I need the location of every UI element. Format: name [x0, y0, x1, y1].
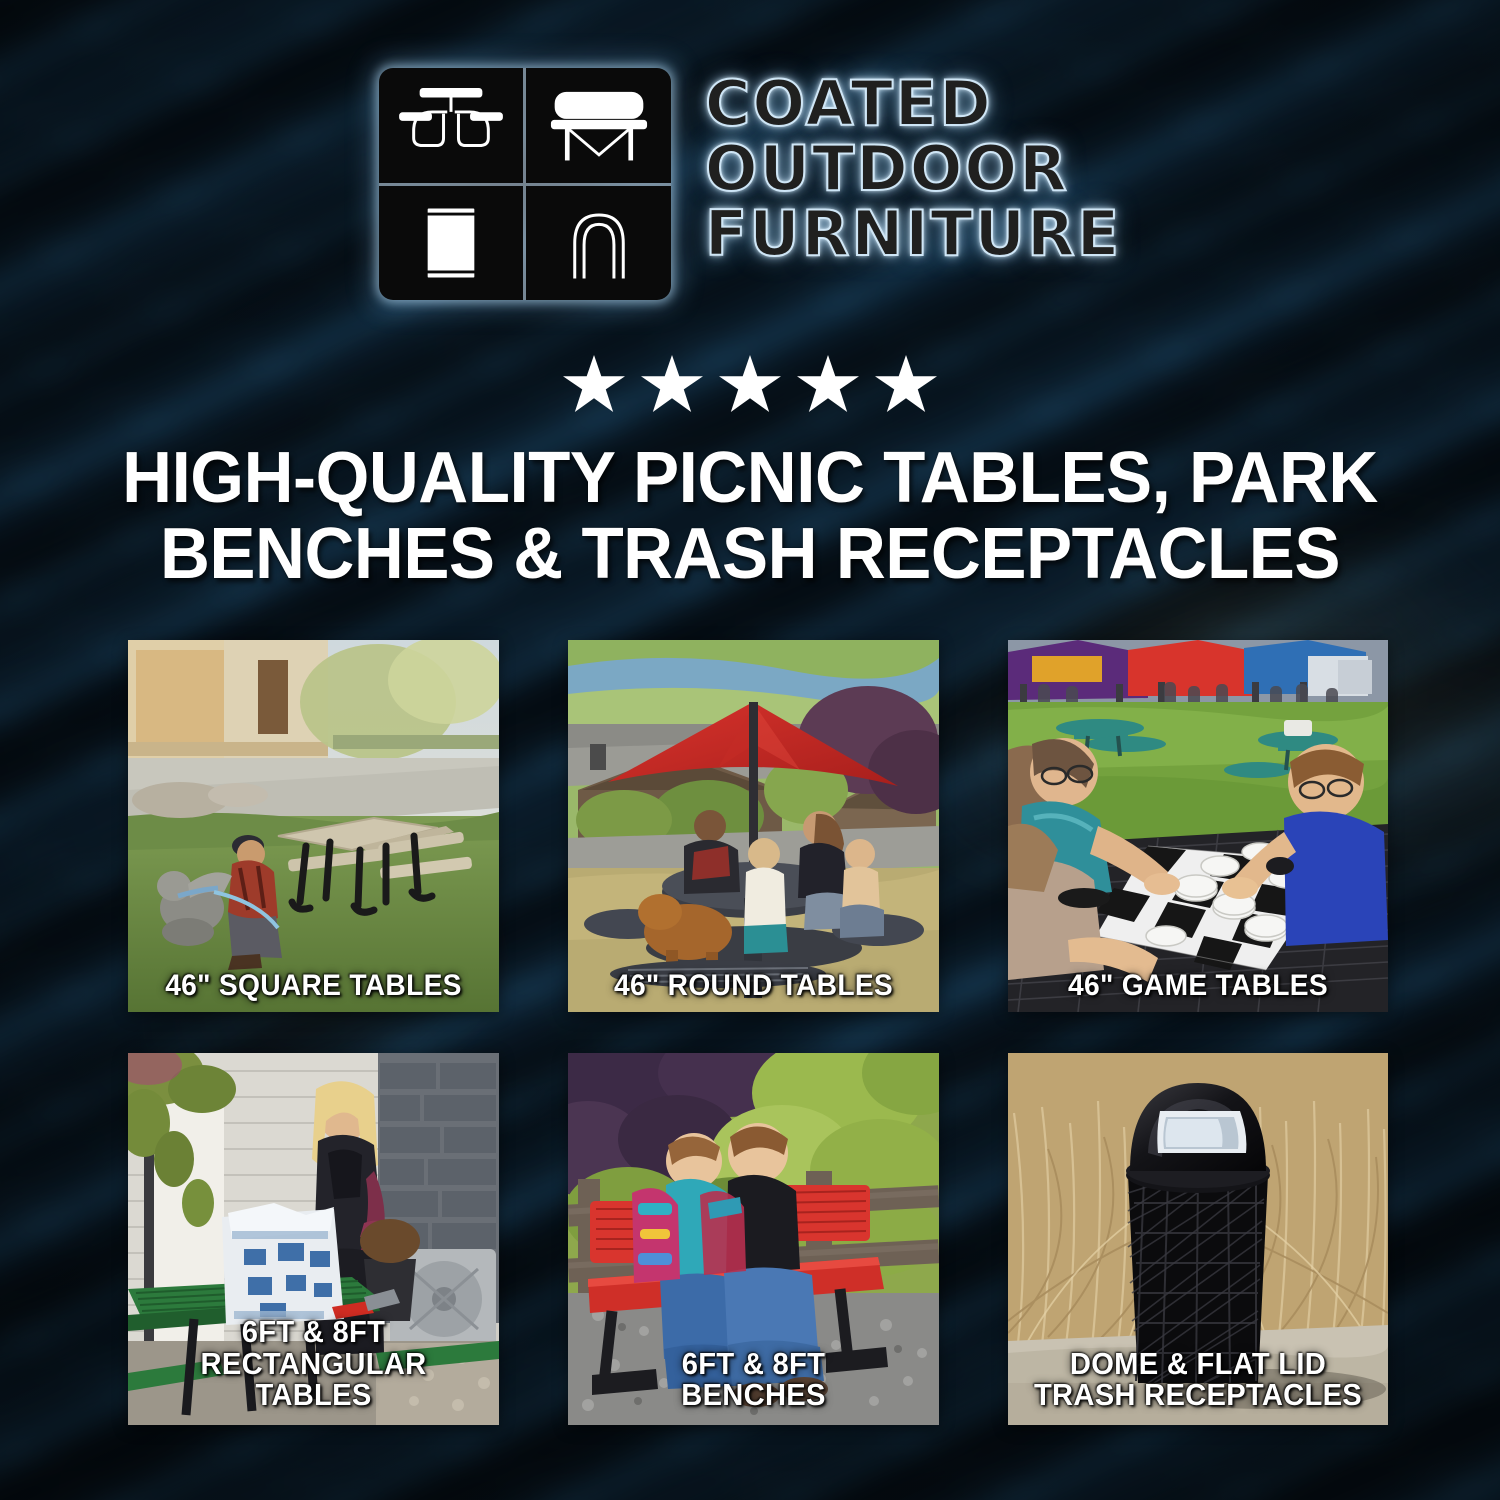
star-icon: [875, 355, 937, 415]
product-photo-round-tables: [568, 640, 939, 1012]
caption-line-2: TRASH RECEPTACLES: [1025, 1379, 1371, 1411]
product-card-rectangular-tables[interactable]: 6FT & 8FT RECTANGULAR TABLES: [128, 1053, 499, 1425]
caption-line-2: RECTANGULAR TABLES: [145, 1348, 482, 1411]
caption-line-1: 46" GAME TABLES: [1025, 971, 1371, 1002]
product-caption-round-tables: 46" ROUND TABLES: [585, 971, 922, 1002]
product-card-game-tables[interactable]: 46" GAME TABLES: [1008, 640, 1388, 1012]
star-icon: [797, 355, 859, 415]
brand-line-outdoor: OUTDOOR: [705, 137, 1121, 200]
caption-line-1: 6FT & 8FT: [585, 1348, 922, 1380]
star-icon: [719, 355, 781, 415]
product-caption-square-tables: 46" SQUARE TABLES: [145, 971, 482, 1002]
brand-wordmark: COATED OUTDOOR FURNITURE: [705, 68, 1121, 266]
star-icon: [563, 355, 625, 415]
bike-rack-arch-icon: [526, 186, 671, 301]
trash-receptacle-icon: [379, 186, 524, 301]
page-title: HIGH-QUALITY PICNIC TABLES, PARK BENCHES…: [97, 440, 1403, 593]
bench-icon: [526, 68, 671, 183]
product-grid: 46" SQUARE TABLES: [128, 640, 1378, 1425]
product-photo-game-tables: [1008, 640, 1388, 1012]
product-card-benches[interactable]: 6FT & 8FT BENCHES: [568, 1053, 939, 1425]
brand-logo: COATED OUTDOOR FURNITURE: [0, 68, 1500, 300]
caption-line-1: 6FT & 8FT: [145, 1316, 482, 1348]
logo-icon-grid: [379, 68, 671, 300]
product-caption-game-tables: 46" GAME TABLES: [1025, 971, 1371, 1002]
product-card-round-tables[interactable]: 46" ROUND TABLES: [568, 640, 939, 1012]
picnic-table-icon: [379, 68, 524, 183]
product-caption-trash-receptacles: DOME & FLAT LID TRASH RECEPTACLES: [1025, 1348, 1371, 1411]
caption-line-1: 46" ROUND TABLES: [585, 971, 922, 1002]
brand-line-coated: COATED: [705, 72, 1121, 135]
product-photo-square-tables: [128, 640, 499, 1012]
product-caption-benches: 6FT & 8FT BENCHES: [585, 1348, 922, 1411]
poster: COATED OUTDOOR FURNITURE HIGH-QUALITY PI…: [0, 0, 1500, 1500]
caption-line-1: DOME & FLAT LID: [1025, 1348, 1371, 1380]
caption-line-1: 46" SQUARE TABLES: [145, 971, 482, 1002]
brand-line-furniture: FURNITURE: [705, 202, 1121, 265]
product-card-square-tables[interactable]: 46" SQUARE TABLES: [128, 640, 499, 1012]
product-card-trash-receptacles[interactable]: DOME & FLAT LID TRASH RECEPTACLES: [1008, 1053, 1388, 1425]
product-caption-rectangular-tables: 6FT & 8FT RECTANGULAR TABLES: [145, 1316, 482, 1411]
headline-line-2: BENCHES & TRASH RECEPTACLES: [97, 516, 1403, 592]
star-rating: [0, 355, 1500, 415]
caption-line-2: BENCHES: [585, 1379, 922, 1411]
star-icon: [641, 355, 703, 415]
headline-line-1: HIGH-QUALITY PICNIC TABLES, PARK: [97, 440, 1403, 516]
